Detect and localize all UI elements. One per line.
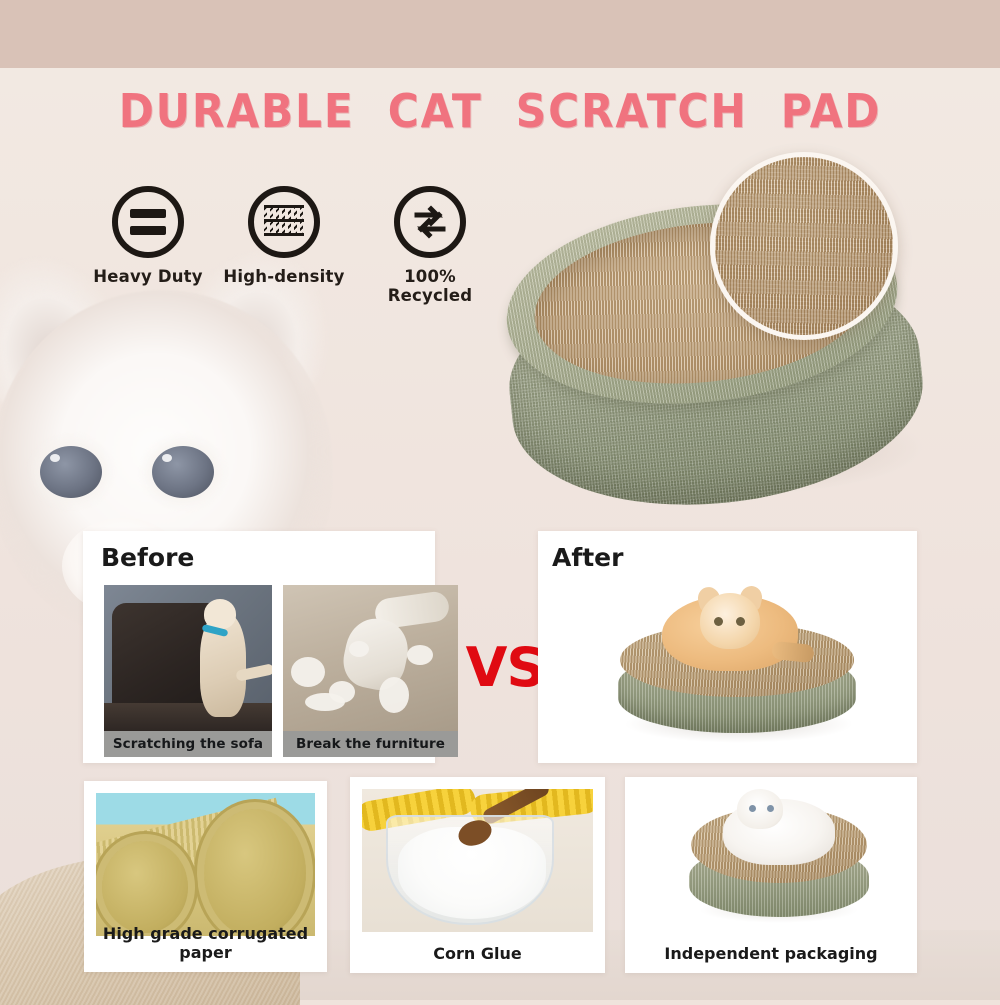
- corrugated-layers-icon: [248, 186, 320, 258]
- photo-area: [362, 789, 593, 932]
- cat-eye-right: [767, 805, 774, 812]
- panel-corn-glue: Corn Glue: [350, 777, 605, 973]
- feature-label: High-density: [214, 267, 354, 286]
- paper-roll: [204, 809, 306, 936]
- debris: [407, 645, 433, 665]
- panel-independent-packaging: Independent packaging: [625, 777, 917, 973]
- after-heading: After: [552, 543, 623, 572]
- photo-area: [104, 585, 272, 731]
- cat-head: [700, 593, 760, 649]
- cat-eye-left: [714, 617, 723, 626]
- photo-caption: Break the furniture: [283, 731, 458, 757]
- ginger-cat-body: [662, 595, 798, 671]
- debris: [349, 641, 369, 657]
- page-title: DURABLE CAT SCRATCH PAD: [40, 84, 960, 138]
- debris: [379, 677, 409, 713]
- feature-icon-row: Heavy Duty High-density 100% Recycled: [78, 186, 508, 304]
- product-infographic: DURABLE CAT SCRATCH PAD Heavy Duty High-…: [0, 0, 1000, 1000]
- cat-eye-left: [749, 805, 756, 812]
- after-card: After: [538, 531, 917, 763]
- cat-scratching-sofa-photo: Scratching the sofa: [104, 585, 272, 757]
- before-card: Before Scratching the sofa: [83, 531, 435, 763]
- feature-recycled: 100% Recycled: [360, 186, 500, 305]
- feature-high-density: High-density: [214, 186, 354, 286]
- paper-roll: [102, 841, 188, 933]
- top-color-band: [0, 0, 1000, 68]
- feature-label: Heavy Duty: [78, 267, 218, 286]
- sofa-seat: [104, 703, 272, 731]
- ginger-cat-on-scratch-pad-photo: [610, 589, 864, 749]
- panel-caption: High grade corrugated paper: [84, 924, 327, 962]
- corrugated-paper-photo: [96, 793, 315, 936]
- feature-label: 100% Recycled: [360, 267, 500, 305]
- photo-area: [637, 789, 905, 932]
- cat-eye-left: [40, 446, 102, 498]
- panel-corrugated-paper: High grade corrugated paper: [84, 781, 327, 972]
- cat-eye-right: [152, 446, 214, 498]
- debris: [305, 693, 345, 711]
- photo-caption: Scratching the sofa: [104, 731, 272, 757]
- recycle-loop-icon: [394, 186, 466, 258]
- photo-area: [96, 793, 315, 936]
- feature-heavy-duty: Heavy Duty: [78, 186, 218, 286]
- photo-area: [283, 585, 458, 731]
- cat-broken-furniture-photo: Break the furniture: [283, 585, 458, 757]
- corrugated-texture-zoom-callout: [710, 152, 898, 340]
- white-cat: [723, 799, 835, 865]
- independent-packaging-photo: [637, 789, 905, 932]
- before-heading: Before: [101, 543, 194, 572]
- hero-product-image: [492, 150, 964, 520]
- corn-glue-photo: [362, 789, 593, 932]
- panel-caption: Independent packaging: [625, 944, 917, 963]
- panel-caption: Corn Glue: [350, 944, 605, 963]
- cat-eye-right: [736, 617, 745, 626]
- heavy-duty-bars-icon: [112, 186, 184, 258]
- debris: [291, 657, 325, 687]
